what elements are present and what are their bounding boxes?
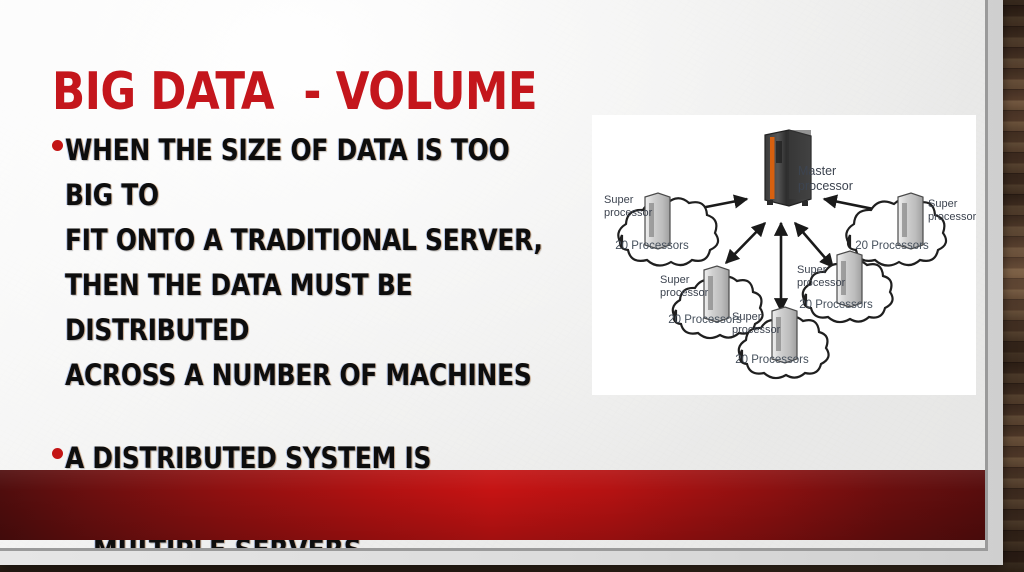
- master-processor-label-line2: processor: [798, 179, 853, 193]
- cloud-label-lower-right: 20 Processors: [799, 299, 873, 311]
- distributed-system-diagram-image: Master processor: [592, 115, 976, 395]
- footer-accent-bar: [0, 470, 985, 540]
- slide-surface: BIG DATA - VOLUME WHEN THE SIZE OF DATA …: [0, 0, 985, 548]
- cloud-label-lower-left: 20 Processors: [668, 314, 742, 326]
- node-label-lower-right-line2: processor: [797, 277, 846, 289]
- slide-stage: BIG DATA - VOLUME WHEN THE SIZE OF DATA …: [0, 0, 1024, 572]
- network-topology-diagram: Master processor: [592, 115, 976, 395]
- cloud-label-bottom: 20 Processors: [735, 354, 809, 366]
- slide-frame-mat: BIG DATA - VOLUME WHEN THE SIZE OF DATA …: [0, 0, 1003, 565]
- bullet-dot-icon: [52, 448, 63, 459]
- node-label-left-line2: processor: [604, 207, 653, 219]
- node-label-right-line1: Super: [928, 198, 958, 210]
- cloud-label-left: 20 Processors: [615, 240, 689, 252]
- page-title: BIG DATA - VOLUME: [52, 66, 537, 118]
- master-processor-label-line1: Master: [798, 164, 836, 178]
- bullet-text-1: WHEN THE SIZE OF DATA IS TOO BIG TO FIT …: [65, 128, 566, 398]
- cloud-label-right: 20 Processors: [855, 240, 929, 252]
- node-label-right-line2: processor: [928, 211, 976, 223]
- list-item: WHEN THE SIZE OF DATA IS TOO BIG TO FIT …: [52, 128, 592, 398]
- node-label-left-line1: Super: [604, 194, 634, 206]
- node-label-lower-right-line1: Super: [797, 264, 827, 276]
- node-label-lower-left-line2: processor: [660, 287, 709, 299]
- node-label-lower-left-line1: Super: [660, 274, 690, 286]
- bullet-dot-icon: [52, 140, 63, 151]
- footer-accent-bar-shading: [0, 470, 985, 540]
